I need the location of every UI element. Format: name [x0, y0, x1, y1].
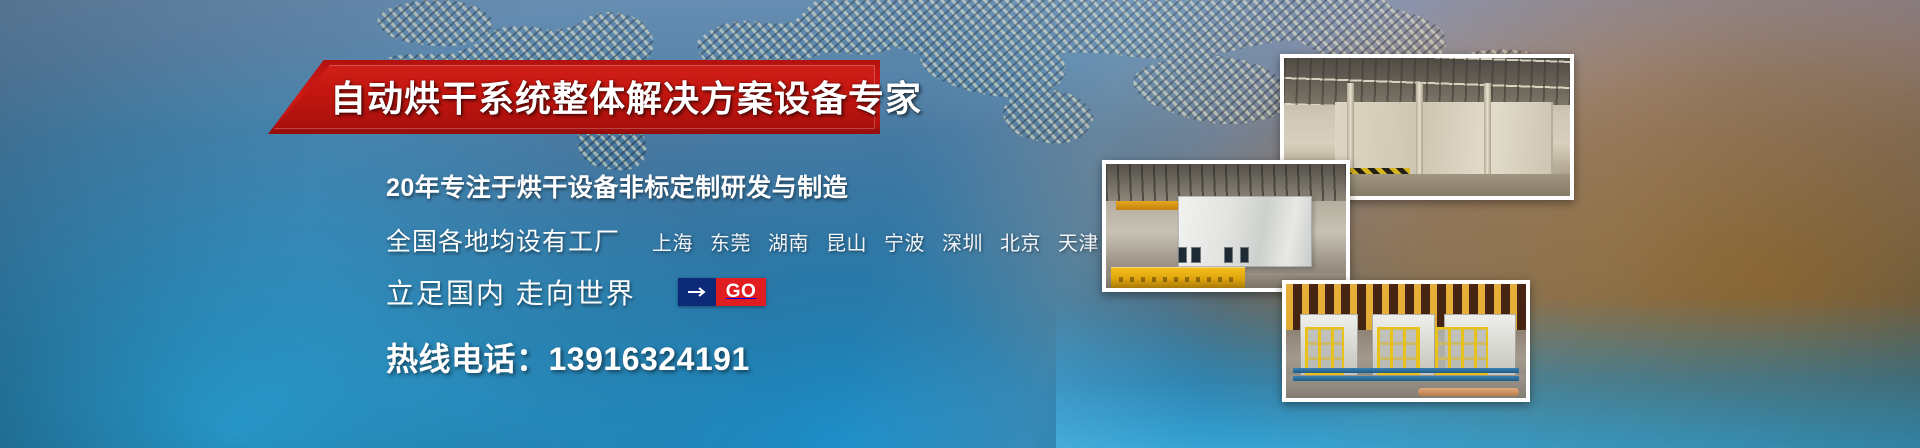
promo-banner: 自动烘干系统整体解决方案设备专家 20年专注于烘干设备非标定制研发与制造 全国各… — [0, 0, 1920, 448]
photo-oven-cabin-image — [1106, 164, 1346, 288]
hotline-text: 热线电话：13916324191 — [386, 334, 1166, 380]
city-item: 昆山 — [826, 227, 867, 256]
city-item: 上海 — [652, 227, 693, 256]
city-list: 上海 东莞 湖南 昆山 宁波 深圳 北京 天津 — [652, 227, 1099, 256]
cabin-transfer-cart — [1111, 267, 1245, 288]
city-item: 东莞 — [710, 227, 751, 256]
prod-rail — [1293, 368, 1519, 373]
city-item: 北京 — [1000, 227, 1041, 256]
prod-rail — [1293, 376, 1519, 381]
headline-ribbon: 自动烘干系统整体解决方案设备专家 — [268, 60, 880, 134]
tagline-text: 20年专注于烘干设备非标定制研发与制造 — [386, 168, 1166, 204]
factories-label: 全国各地均设有工厂 — [386, 222, 620, 258]
cabin-oven-body — [1178, 196, 1312, 267]
photo-oven-cabin — [1102, 160, 1350, 292]
prod-pipe — [1418, 388, 1519, 396]
city-item: 湖南 — [768, 227, 809, 256]
city-item: 天津 — [1058, 227, 1099, 256]
factories-row: 全国各地均设有工厂 上海 东莞 湖南 昆山 宁波 深圳 北京 天津 — [386, 222, 1166, 258]
go-button[interactable]: GO — [678, 278, 767, 306]
hall-column — [1416, 83, 1423, 182]
ribbon-headline-text: 自动烘干系统整体解决方案设备专家 — [330, 70, 922, 122]
arrow-right-icon — [678, 278, 716, 306]
slogan-row: 立足国内 走向世界 GO — [386, 272, 1166, 312]
city-item: 深圳 — [942, 227, 983, 256]
cabin-door — [1240, 247, 1249, 263]
cabin-door — [1224, 247, 1233, 263]
cabin-door — [1178, 247, 1187, 263]
go-button-label: GO — [716, 278, 767, 306]
slogan-text: 立足国内 走向世界 — [386, 272, 636, 312]
hall-column — [1484, 83, 1491, 182]
cabin-door — [1191, 247, 1200, 263]
copy-block: 20年专注于烘干设备非标定制研发与制造 全国各地均设有工厂 上海 东莞 湖南 昆… — [386, 168, 1166, 380]
photo-production-line — [1282, 280, 1530, 402]
city-item: 宁波 — [884, 227, 925, 256]
photo-production-line-image — [1286, 284, 1526, 398]
hall-ceiling — [1284, 58, 1570, 105]
